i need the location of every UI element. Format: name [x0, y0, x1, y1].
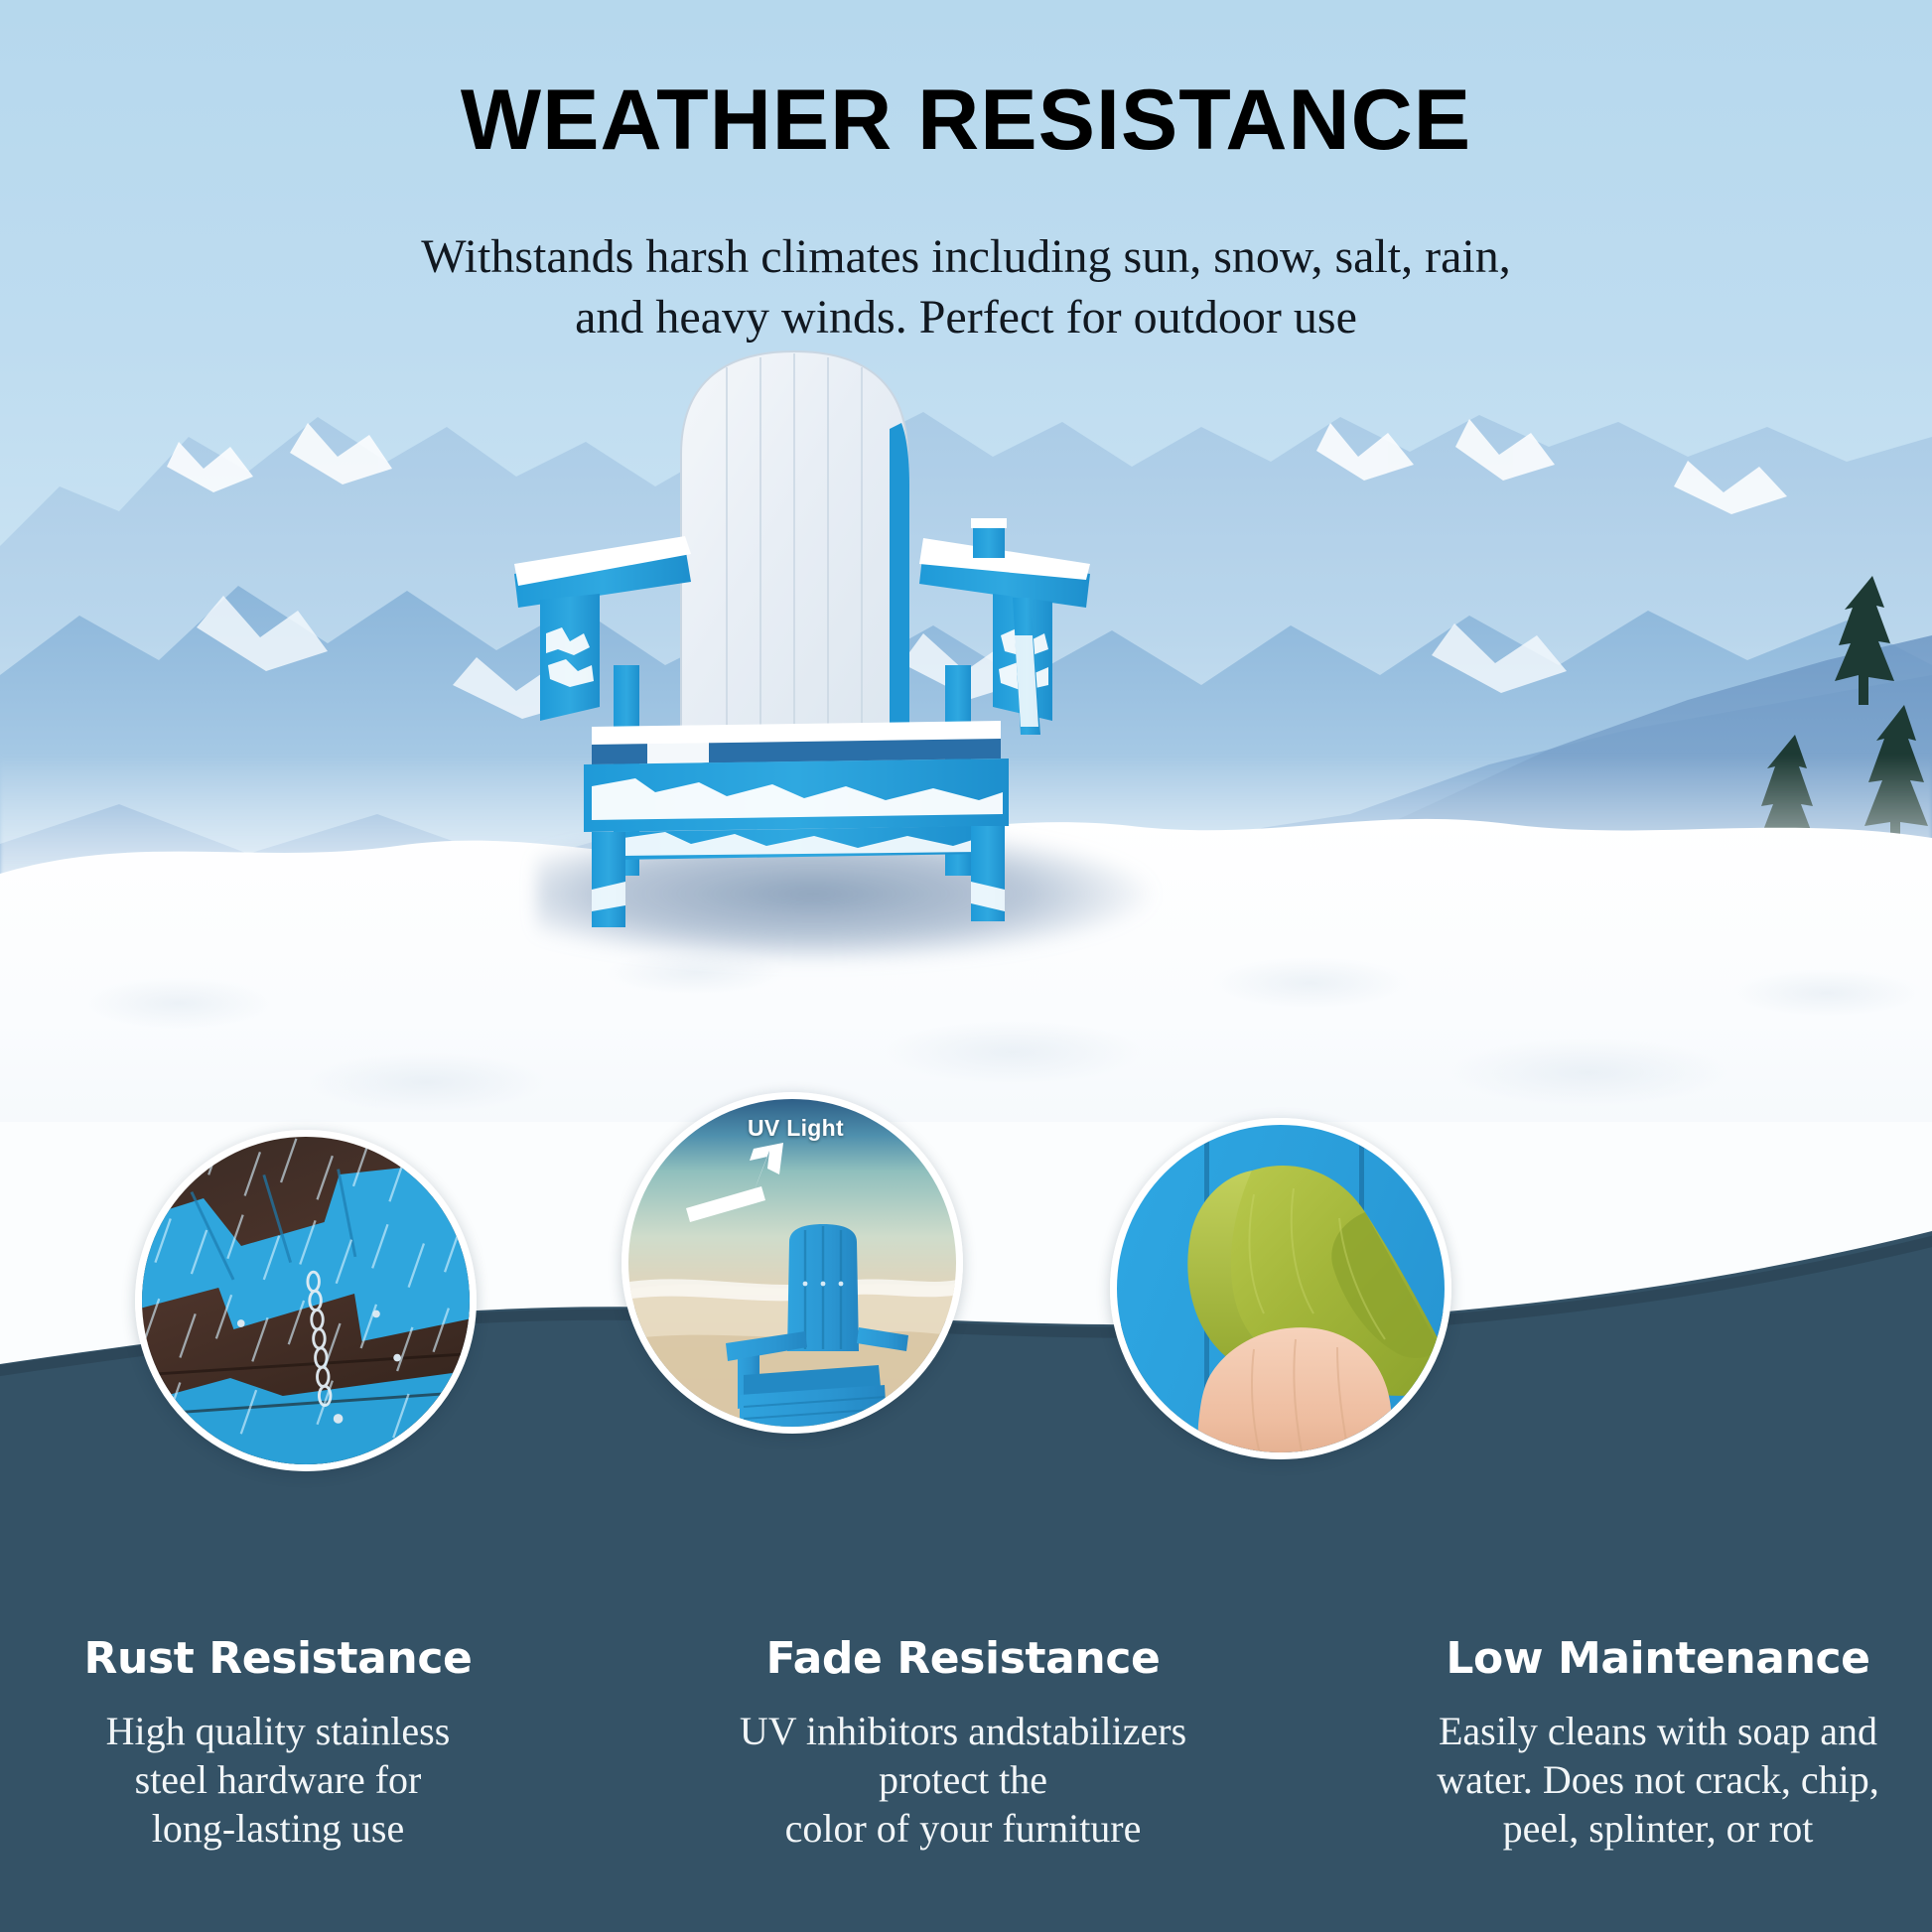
feature-image-fade-resistance: UV Light	[621, 1092, 963, 1434]
feature-body-line-2: water. Does not crack, chip,	[1437, 1757, 1878, 1802]
feature-block-rust-resistance: Rust Resistance High quality stainless s…	[0, 1633, 576, 1853]
subtitle-line-2: and heavy winds. Perfect for outdoor use	[271, 287, 1661, 347]
hero-chair	[496, 338, 1112, 933]
feature-image-rust-resistance	[135, 1130, 477, 1471]
hand-icon	[1192, 1306, 1411, 1459]
stainless-chain-icon	[142, 1137, 470, 1464]
feature-body-line-3: long-lasting use	[152, 1806, 404, 1851]
feature-block-low-maintenance: Low Maintenance Easily cleans with soap …	[1360, 1633, 1932, 1853]
feature-body-line-2: steel hardware for	[135, 1757, 422, 1802]
feature-body-line-3: peel, splinter, or rot	[1503, 1806, 1814, 1851]
uv-light-label: UV Light	[748, 1115, 844, 1142]
feature-body-rust-resistance: High quality stainless steel hardware fo…	[0, 1708, 576, 1853]
subtitle-line-1: Withstands harsh climates including sun,…	[271, 226, 1661, 287]
feature-body-line-2: protect the	[879, 1757, 1047, 1802]
uv-arrow-icon	[684, 1143, 833, 1252]
feature-title-low-maintenance: Low Maintenance	[1360, 1633, 1932, 1684]
feature-block-fade-resistance: Fade Resistance UV inhibitors andstabili…	[665, 1633, 1261, 1853]
page-subtitle: Withstands harsh climates including sun,…	[271, 226, 1661, 348]
feature-body-line-3: color of your furniture	[785, 1806, 1142, 1851]
feature-body-low-maintenance: Easily cleans with soap and water. Does …	[1360, 1708, 1932, 1853]
feature-title-fade-resistance: Fade Resistance	[665, 1633, 1261, 1684]
feature-title-rust-resistance: Rust Resistance	[0, 1633, 576, 1684]
infographic-root: UV Light	[0, 0, 1932, 1932]
feature-body-line-1: High quality stainless	[106, 1709, 451, 1753]
page-title: WEATHER RESISTANCE	[0, 77, 1932, 163]
feature-image-low-maintenance	[1110, 1118, 1451, 1459]
feature-body-line-1: Easily cleans with soap and	[1439, 1709, 1877, 1753]
beach-chair-icon	[720, 1224, 928, 1434]
feature-body-line-1: UV inhibitors andstabilizers	[740, 1709, 1186, 1753]
feature-body-fade-resistance: UV inhibitors andstabilizers protect the…	[665, 1708, 1261, 1853]
